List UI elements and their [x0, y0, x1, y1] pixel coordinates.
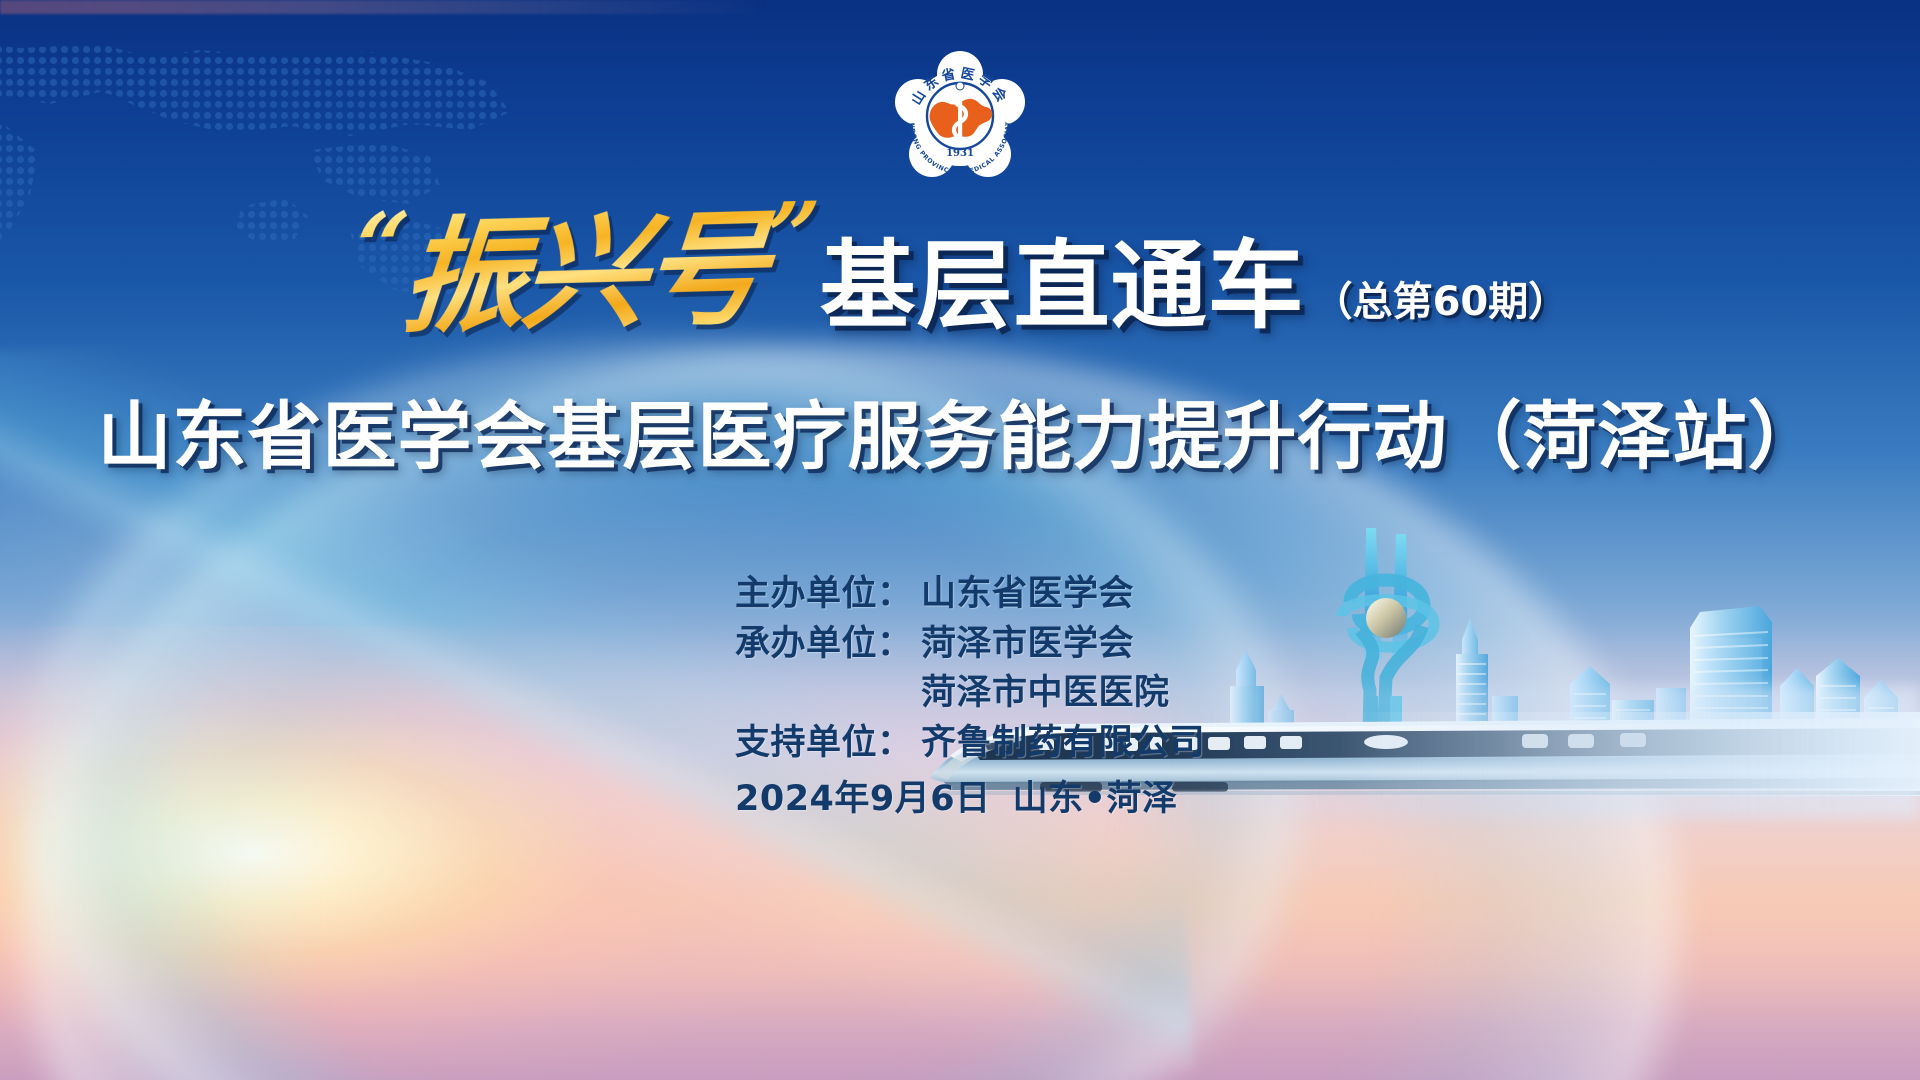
poster-canvas: 1931 山东省医学会 SHANDONG PROVINCIAL MEDICAL …	[0, 0, 1920, 1080]
info-value-supporter: 齐鲁制药有限公司	[921, 719, 1205, 769]
info-value-organizer: 山东省医学会	[921, 570, 1134, 620]
brand-title: “振兴号”	[345, 190, 820, 348]
association-logo: 1931 山东省医学会 SHANDONG PROVINCIAL MEDICAL …	[894, 50, 1026, 186]
info-value-host: 菏泽市医学会	[921, 620, 1134, 670]
info-row-host: 承办单位： 菏泽市医学会	[735, 620, 1205, 670]
brand-title-text: 振兴号	[396, 197, 768, 351]
logo-year: 1931	[946, 148, 974, 159]
info-label-supporter: 支持单位：	[735, 719, 921, 769]
event-info-block: 主办单位： 山东省医学会 承办单位： 菏泽市医学会 菏泽市中医医院 支持单位： …	[735, 570, 1205, 824]
subtitle: 山东省医学会基层医疗服务能力提升行动（菏泽站）	[0, 400, 1920, 474]
info-row-organizer: 主办单位： 山东省医学会	[735, 570, 1205, 620]
info-value-host-2: 菏泽市中医医院	[921, 669, 1170, 719]
quote-close: ”	[761, 182, 819, 291]
event-date: 2024年9月6日	[735, 775, 991, 825]
issue-number: （总第60期）	[1313, 282, 1569, 342]
quote-open: “	[351, 193, 409, 302]
title-row: “振兴号” 基层直通车 （总第60期）	[0, 196, 1920, 342]
main-title: 基层直通车	[820, 238, 1305, 342]
event-location: 山东•菏泽	[1013, 775, 1178, 825]
info-label-host: 承办单位：	[735, 620, 921, 670]
info-label-host-2	[735, 669, 921, 719]
info-row-host-2: 菏泽市中医医院	[735, 669, 1205, 719]
info-row-date-location: 2024年9月6日 山东•菏泽	[735, 775, 1205, 825]
info-label-organizer: 主办单位：	[735, 570, 921, 620]
date-location-separator	[991, 775, 1013, 825]
info-row-supporter: 支持单位： 齐鲁制药有限公司	[735, 719, 1205, 769]
